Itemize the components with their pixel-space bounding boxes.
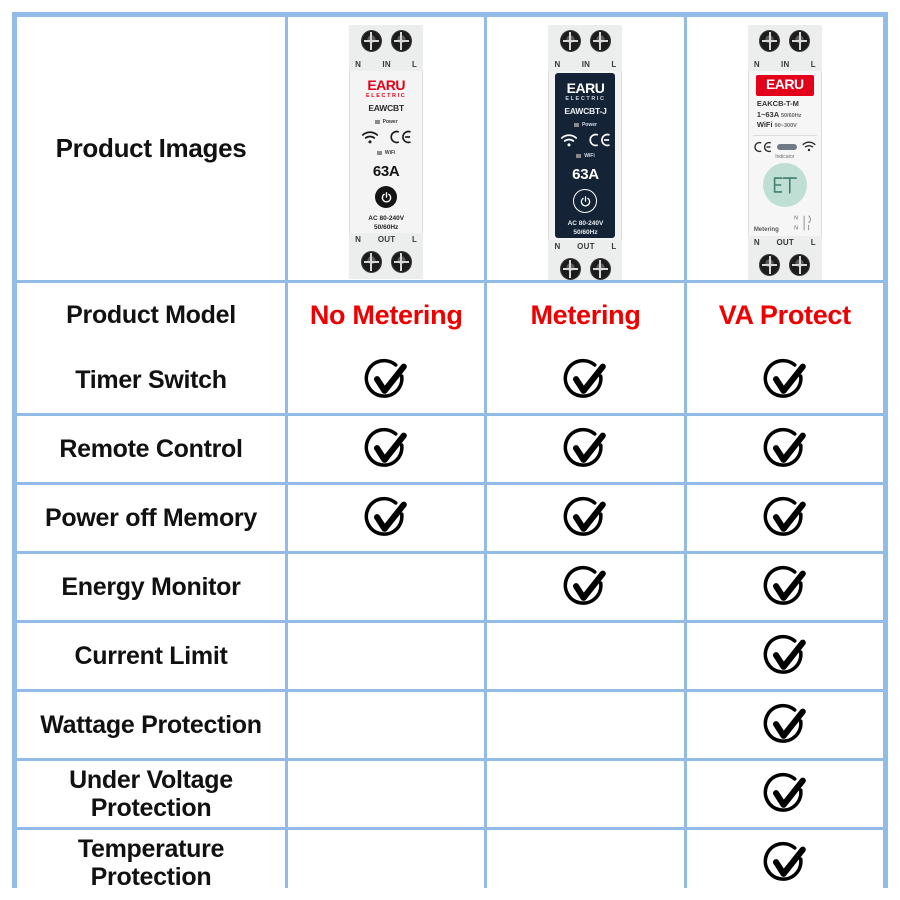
device-face: EARU EAKCB-T-M 1~63A 50/60Hz WiFi 90~300… xyxy=(748,71,822,236)
terminal-label-l: L xyxy=(611,242,616,251)
terminal-labels-bottom: N OUT L xyxy=(548,242,622,251)
cell-feature-no-metering xyxy=(288,623,484,689)
check-circle-icon xyxy=(763,772,807,816)
terminal-block-top: N IN L xyxy=(548,25,622,71)
terminal-label-n: N xyxy=(355,60,361,69)
device-face: EARU ELECTRIC EAWCBT-J Power xyxy=(548,71,622,240)
terminal-label-l: L xyxy=(811,238,816,247)
ce-mark-icon xyxy=(589,133,611,147)
screw-icon xyxy=(361,251,382,273)
table-row-feature: Timer Switch xyxy=(17,347,883,413)
check-circle-icon xyxy=(763,496,807,540)
screw-icon xyxy=(759,30,780,52)
cell-model-va-protect: VA Protect xyxy=(687,283,883,347)
cell-model-no-metering: No Metering xyxy=(288,283,484,347)
screw-icon xyxy=(789,30,810,52)
check-circle-icon xyxy=(763,841,807,885)
table-row-product-images: Product Images N IN L xyxy=(17,17,883,280)
metering-label: Metering xyxy=(754,227,779,233)
terminal-label-l: L xyxy=(611,60,616,69)
brand-subtitle: ELECTRIC xyxy=(565,96,605,102)
row-label-feature: Remote Control xyxy=(53,435,248,463)
row-label-cell: TemperatureProtection xyxy=(17,830,285,896)
table-row-feature: Remote Control xyxy=(17,416,883,482)
cell-feature-va-protect xyxy=(687,347,883,413)
led-square-icon xyxy=(377,151,382,155)
screw-icon xyxy=(361,30,382,52)
device-model-code: EAWCBT xyxy=(368,103,404,113)
brand-logo: EARU xyxy=(766,76,804,92)
check-circle-icon xyxy=(763,565,807,609)
wifi-led-indicator: WiFi xyxy=(377,150,396,156)
cell-feature-no-metering xyxy=(288,761,484,827)
power-led-label: Power xyxy=(383,119,398,125)
terminal-label-in: IN xyxy=(582,60,590,69)
terminal-label-out: OUT xyxy=(577,242,595,251)
terminal-label-n: N xyxy=(554,60,560,69)
cell-feature-metering xyxy=(487,347,683,413)
brand-logo: EARU xyxy=(567,81,605,95)
screw-icon xyxy=(391,251,412,273)
model-name-metering: Metering xyxy=(530,300,640,331)
device-voltage-rating: AC 80-240V 50/60Hz xyxy=(368,215,404,233)
comparison-page: Product Images N IN L xyxy=(0,0,900,900)
device-model-code: EAWCBT-J xyxy=(564,106,606,116)
table-row-feature: TemperatureProtection xyxy=(17,830,883,896)
divider xyxy=(753,135,817,136)
terminal-label-out: OUT xyxy=(777,238,795,247)
table-row-feature: Current Limit xyxy=(17,623,883,689)
voltage-line-1: AC 80-240V xyxy=(368,215,404,224)
table-row-product-model: Product Model No Metering Metering VA Pr… xyxy=(17,283,883,347)
screw-group-top xyxy=(349,30,423,52)
metering-row: Metering N N xyxy=(749,213,821,236)
table-row-feature: Power off Memory xyxy=(17,485,883,551)
check-circle-icon xyxy=(563,496,607,540)
brand-logo: EARU xyxy=(367,78,405,92)
table-row-feature: Energy Monitor xyxy=(17,554,883,620)
terminal-labels-top: N IN L xyxy=(748,60,822,69)
terminal-label-out: OUT xyxy=(378,235,396,244)
row-label-cell: Timer Switch xyxy=(17,347,285,413)
product-comparison-table: Product Images N IN L xyxy=(12,12,888,888)
spec-voltage: 90~300V xyxy=(775,123,797,129)
ce-mark-icon xyxy=(754,141,772,153)
feature-rows-container: Timer Switch Remote Control Power off Me… xyxy=(17,347,883,896)
cell-feature-metering xyxy=(487,485,683,551)
screw-icon xyxy=(391,30,412,52)
power-led-indicator: Power xyxy=(375,119,398,125)
voltage-line-1: AC 80-240V xyxy=(568,220,604,229)
row-label-cell: Wattage Protection xyxy=(17,692,285,758)
spec-current: 1~63A xyxy=(757,110,779,119)
spec-current-line: 1~63A 50/60Hz xyxy=(757,110,815,121)
row-label-cell: Power off Memory xyxy=(17,485,285,551)
check-circle-icon xyxy=(563,565,607,609)
row-label-product-images: Product Images xyxy=(50,134,253,163)
device-face: EARU ELECTRIC EAWCBT Power xyxy=(349,71,423,233)
screw-icon xyxy=(759,254,780,276)
row-label-cell: Energy Monitor xyxy=(17,554,285,620)
cell-feature-no-metering xyxy=(288,830,484,896)
wifi-icon xyxy=(802,141,816,152)
cell-feature-metering xyxy=(487,761,683,827)
cell-feature-va-protect xyxy=(687,485,883,551)
spec-wifi: WiFi xyxy=(757,120,773,129)
cell-model-metering: Metering xyxy=(487,283,683,347)
check-circle-icon xyxy=(763,427,807,471)
terminal-block-top: N IN L xyxy=(349,25,423,71)
screw-group-bottom xyxy=(349,251,423,273)
row-label-cell: Current Limit xyxy=(17,623,285,689)
device-spec-block: EAKCB-T-M 1~63A 50/60Hz WiFi 90~300V xyxy=(755,99,815,131)
terminal-label-l: L xyxy=(811,60,816,69)
brand-subtitle: ELECTRIC xyxy=(366,93,406,99)
certification-icon-row xyxy=(361,130,412,144)
device-voltage-rating: AC 80-240V 50/60Hz xyxy=(568,220,604,238)
et-logo-icon xyxy=(772,174,798,196)
brand-logo-band: EARU xyxy=(756,75,814,96)
certification-icon-row xyxy=(560,133,611,147)
table-row-feature: Under VoltageProtection xyxy=(17,761,883,827)
led-square-icon xyxy=(375,120,380,124)
led-square-icon xyxy=(576,154,581,158)
terminal-block-top: N IN L xyxy=(748,25,822,71)
row-label-feature: Under VoltageProtection xyxy=(63,766,239,822)
row-label-cell: Under VoltageProtection xyxy=(17,761,285,827)
terminal-labels-top: N IN L xyxy=(548,60,622,69)
cell-feature-va-protect xyxy=(687,761,883,827)
cell-feature-no-metering xyxy=(288,485,484,551)
row-label-feature: Current Limit xyxy=(68,642,233,670)
device-model-code: EAKCB-T-M xyxy=(757,99,815,110)
screw-icon xyxy=(560,30,581,52)
svg-text:N: N xyxy=(794,225,798,231)
cell-feature-metering xyxy=(487,554,683,620)
screw-group-bottom xyxy=(748,254,822,276)
cell-feature-va-protect xyxy=(687,830,883,896)
cell-feature-no-metering xyxy=(288,347,484,413)
device-amperage: 63A xyxy=(572,166,599,183)
cell-feature-metering xyxy=(487,830,683,896)
row-label-feature: Power off Memory xyxy=(39,504,263,532)
wifi-led-label: WiFi xyxy=(584,153,595,159)
svg-text:N: N xyxy=(794,215,798,221)
terminal-label-n: N xyxy=(754,238,760,247)
screw-icon xyxy=(590,258,611,280)
check-circle-icon xyxy=(563,427,607,471)
cell-feature-no-metering xyxy=(288,554,484,620)
terminal-labels-bottom: N OUT L xyxy=(748,238,822,247)
power-led-label: Power xyxy=(582,122,597,128)
row-label-feature: Wattage Protection xyxy=(34,711,267,739)
terminal-labels-bottom: N OUT L xyxy=(349,235,423,244)
ce-mark-icon xyxy=(390,130,412,144)
cell-product-image-va-protect: N IN L EARU EAKCB-T-M 1~63A xyxy=(687,17,883,280)
check-circle-icon xyxy=(364,358,408,402)
screw-group-top xyxy=(548,30,622,52)
screw-icon xyxy=(789,254,810,276)
indicator-label: Indicator xyxy=(749,154,821,160)
screw-icon xyxy=(590,30,611,52)
terminal-label-in: IN xyxy=(382,60,390,69)
cell-feature-metering xyxy=(487,692,683,758)
wifi-icon xyxy=(560,134,578,147)
wifi-led-indicator: WiFi xyxy=(576,153,595,159)
check-circle-icon xyxy=(364,496,408,540)
screw-group-top xyxy=(748,30,822,52)
terminal-block-bottom: N OUT L xyxy=(748,236,822,280)
cell-feature-no-metering xyxy=(288,416,484,482)
model-name-no-metering: No Metering xyxy=(310,300,463,331)
cell-feature-metering xyxy=(487,623,683,689)
device-eawcbt-j: N IN L EARU ELECTRIC EAWCBT-J Po xyxy=(548,25,622,272)
terminal-label-n: N xyxy=(754,60,760,69)
wiring-diagram: N N xyxy=(794,213,816,233)
model-name-va-protect: VA Protect xyxy=(719,300,851,331)
indicator-row xyxy=(749,141,821,153)
check-circle-icon xyxy=(763,634,807,678)
terminal-block-bottom: N OUT L xyxy=(349,233,423,279)
row-label-cell: Product Model xyxy=(17,283,285,347)
check-circle-icon xyxy=(364,427,408,471)
terminal-label-n: N xyxy=(554,242,560,251)
check-circle-icon xyxy=(763,358,807,402)
check-circle-icon xyxy=(563,358,607,402)
row-label-feature: TemperatureProtection xyxy=(72,835,230,891)
wiring-icon: N N xyxy=(794,213,816,233)
cell-feature-metering xyxy=(487,416,683,482)
led-square-icon xyxy=(574,123,579,127)
wifi-led-label: WiFi xyxy=(385,150,396,156)
terminal-label-in: IN xyxy=(781,60,789,69)
terminal-labels-top: N IN L xyxy=(349,60,423,69)
cell-feature-va-protect xyxy=(687,554,883,620)
terminal-label-l: L xyxy=(412,235,417,244)
table-row-feature: Wattage Protection xyxy=(17,692,883,758)
power-led-indicator: Power xyxy=(574,122,597,128)
power-icon xyxy=(381,192,392,203)
wifi-icon xyxy=(361,131,379,144)
power-button[interactable] xyxy=(573,189,597,213)
row-label-feature: Energy Monitor xyxy=(55,573,246,601)
row-label-cell: Remote Control xyxy=(17,416,285,482)
check-circle-icon xyxy=(763,703,807,747)
cell-feature-va-protect xyxy=(687,623,883,689)
row-label-cell: Product Images xyxy=(17,17,285,280)
device-face-panel: EARU ELECTRIC EAWCBT-J Power xyxy=(555,73,615,238)
terminal-label-l: L xyxy=(412,60,417,69)
row-label-feature: Timer Switch xyxy=(69,366,233,394)
cell-feature-va-protect xyxy=(687,416,883,482)
cell-feature-va-protect xyxy=(687,692,883,758)
cell-product-image-no-metering: N IN L EARU ELECTRIC EAWCBT Power xyxy=(288,17,484,280)
voltage-line-2: 50/60Hz xyxy=(568,229,604,238)
voltage-line-2: 50/60Hz xyxy=(368,224,404,233)
screw-group-bottom xyxy=(548,258,622,280)
terminal-block-bottom: N OUT L xyxy=(548,240,622,280)
device-eawcbt: N IN L EARU ELECTRIC EAWCBT Power xyxy=(349,25,423,272)
display-screen xyxy=(763,163,807,207)
cell-feature-no-metering xyxy=(288,692,484,758)
screw-icon xyxy=(560,258,581,280)
device-eakcb-t-m: N IN L EARU EAKCB-T-M 1~63A xyxy=(748,25,822,272)
cell-product-image-metering: N IN L EARU ELECTRIC EAWCBT-J Po xyxy=(487,17,683,280)
spec-wifi-line: WiFi 90~300V xyxy=(757,120,815,131)
terminal-label-n: N xyxy=(355,235,361,244)
power-icon xyxy=(580,196,591,207)
indicator-light xyxy=(777,144,797,150)
row-label-product-model: Product Model xyxy=(60,301,242,329)
power-button[interactable] xyxy=(375,186,397,208)
spec-frequency: 50/60Hz xyxy=(781,113,802,119)
device-amperage: 63A xyxy=(373,163,400,180)
